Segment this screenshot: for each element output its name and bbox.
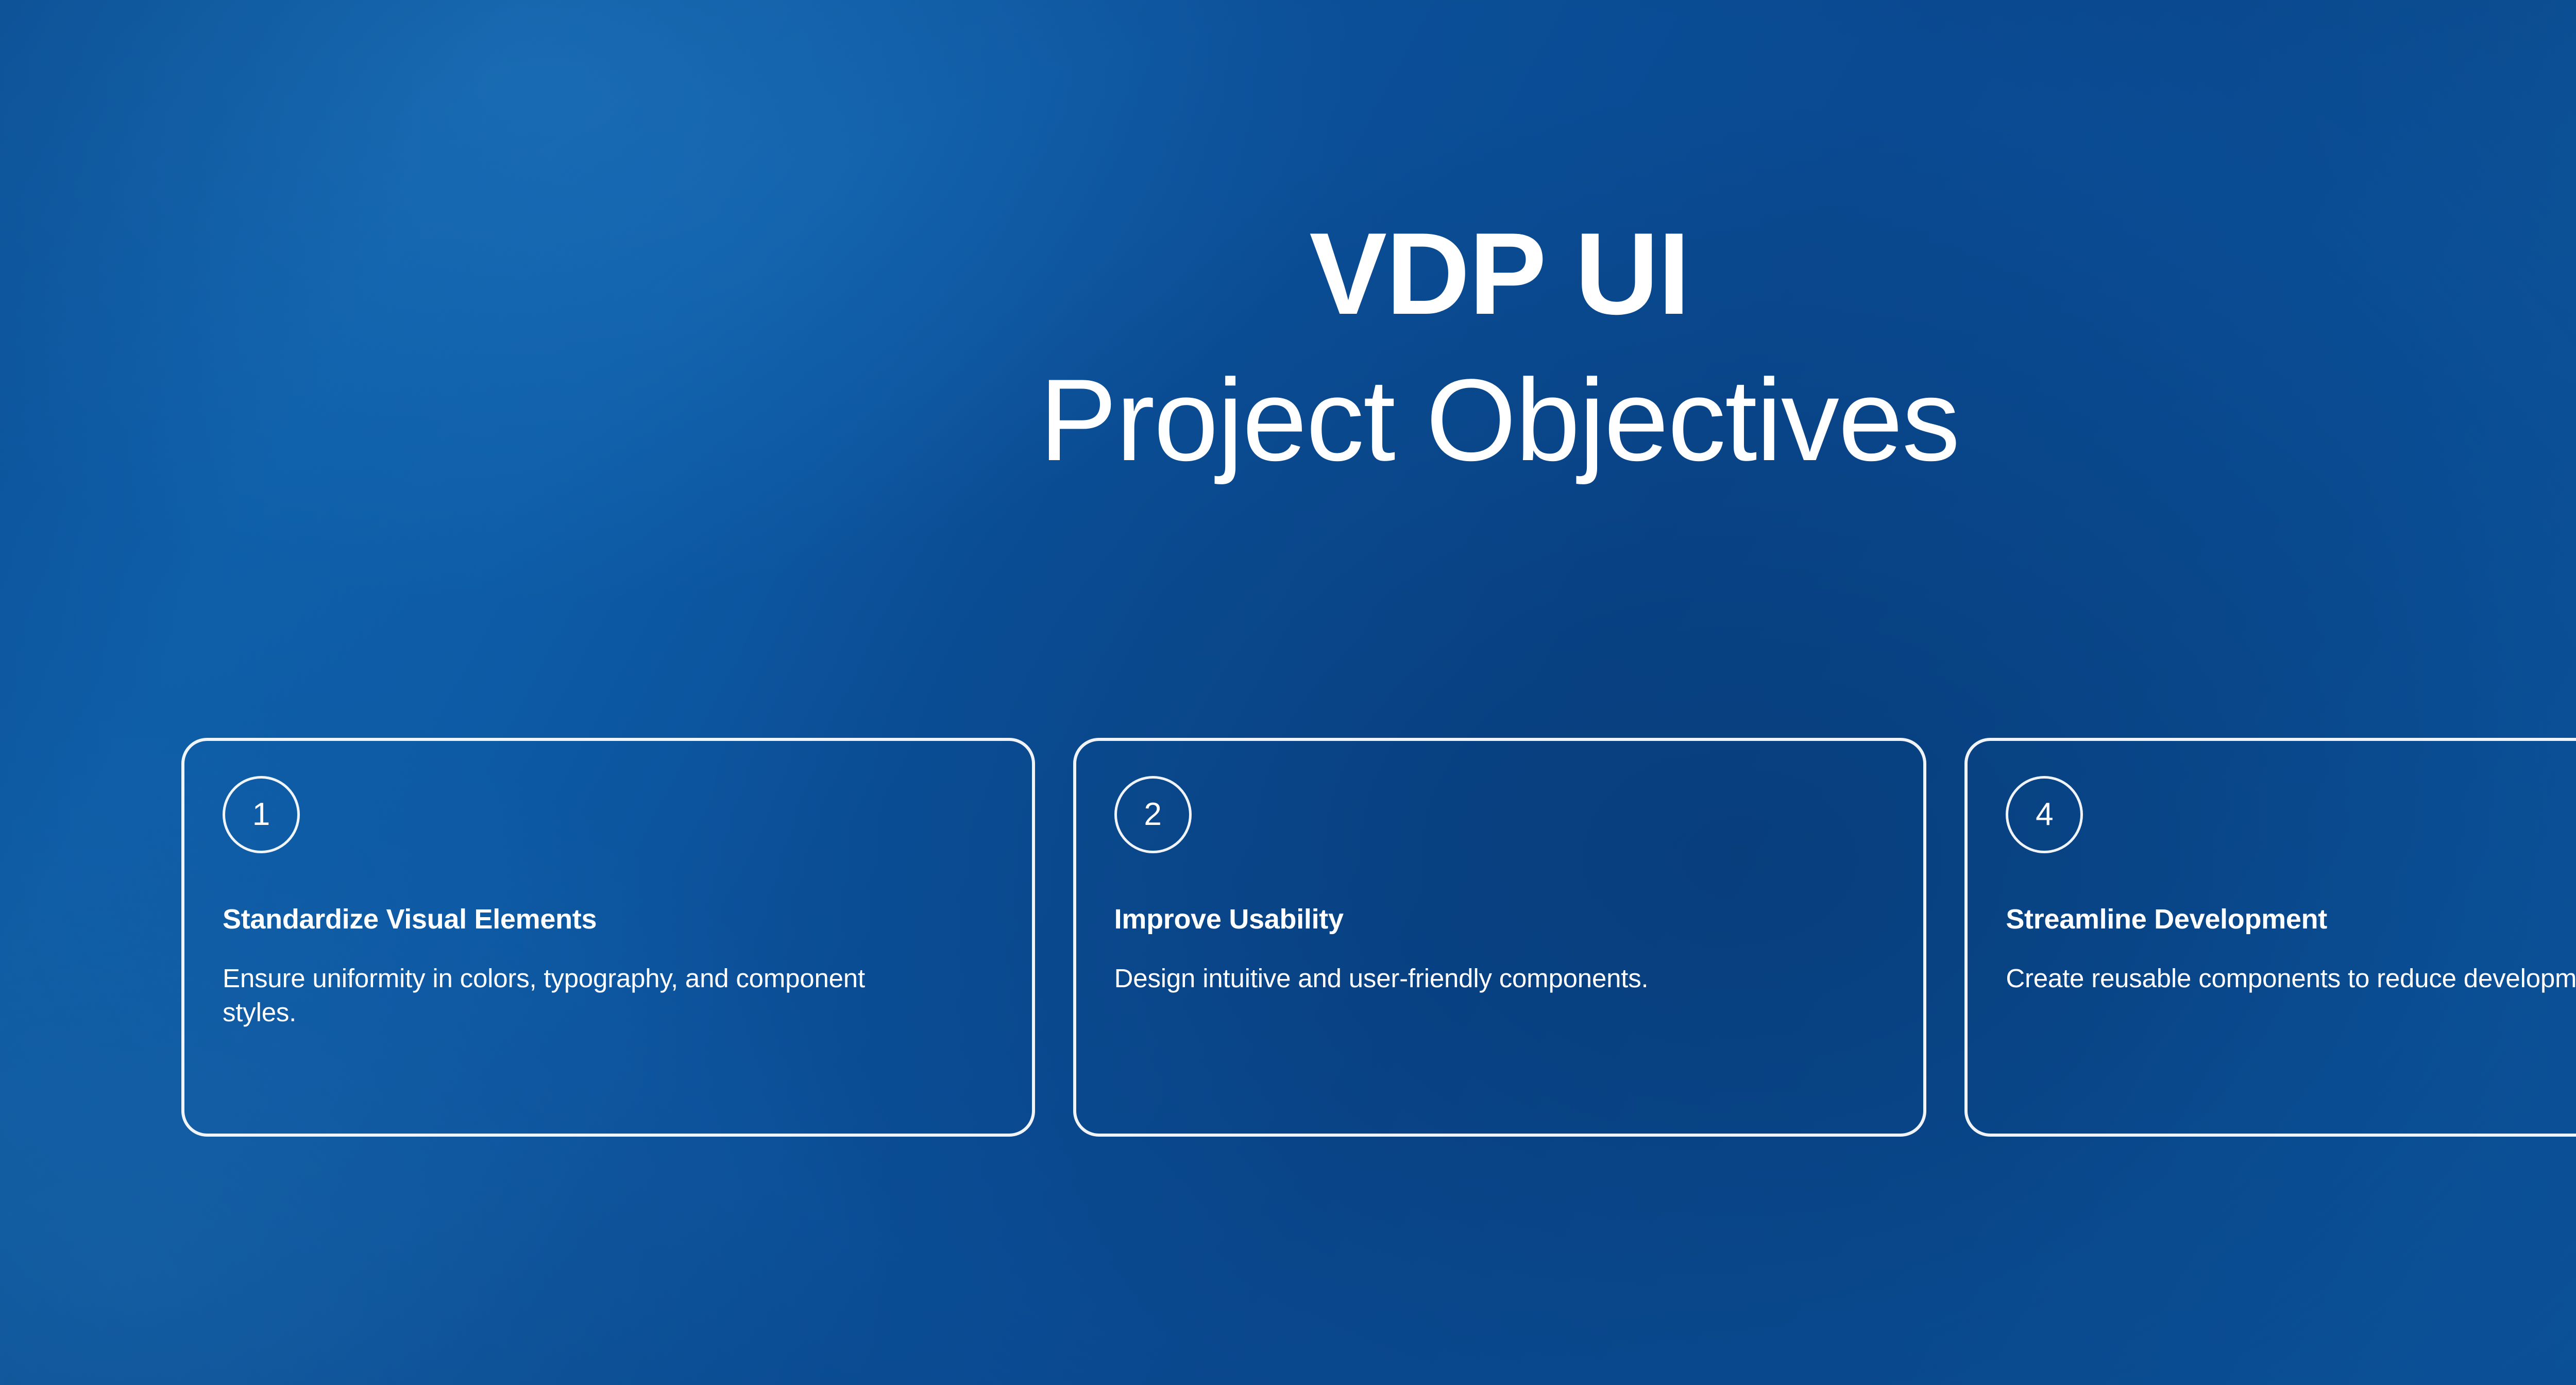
- heading-line-primary: VDP UI: [0, 206, 2576, 341]
- objective-number-badge: 2: [1114, 776, 1192, 853]
- objective-number-label: 2: [1144, 799, 1161, 831]
- objective-title: Streamline Development: [2006, 904, 2576, 935]
- slide-heading: VDP UI Project Objectives: [0, 206, 2576, 487]
- objective-description: Design intuitive and user-friendly compo…: [1114, 961, 1805, 995]
- objective-card-list: 1 Standardize Visual Elements Ensure uni…: [181, 738, 2576, 1137]
- objective-description: Create reusable components to reduce dev…: [2006, 961, 2576, 995]
- objective-number-label: 1: [252, 799, 270, 831]
- objective-title: Standardize Visual Elements: [223, 904, 994, 935]
- objective-card[interactable]: 4 Streamline Development Create reusable…: [1964, 738, 2576, 1137]
- objective-number-label: 4: [2036, 799, 2053, 831]
- heading-line-secondary: Project Objectives: [0, 352, 2576, 487]
- objective-card[interactable]: 2 Improve Usability Design intuitive and…: [1073, 738, 1927, 1137]
- objective-title: Improve Usability: [1114, 904, 1886, 935]
- objective-card[interactable]: 1 Standardize Visual Elements Ensure uni…: [181, 738, 1035, 1137]
- objectives-slide: VDP UI Project Objectives 1 Standardize …: [0, 0, 2576, 1385]
- objective-number-badge: 1: [223, 776, 300, 853]
- objective-description: Ensure uniformity in colors, typography,…: [223, 961, 913, 1029]
- objective-number-badge: 4: [2006, 776, 2083, 853]
